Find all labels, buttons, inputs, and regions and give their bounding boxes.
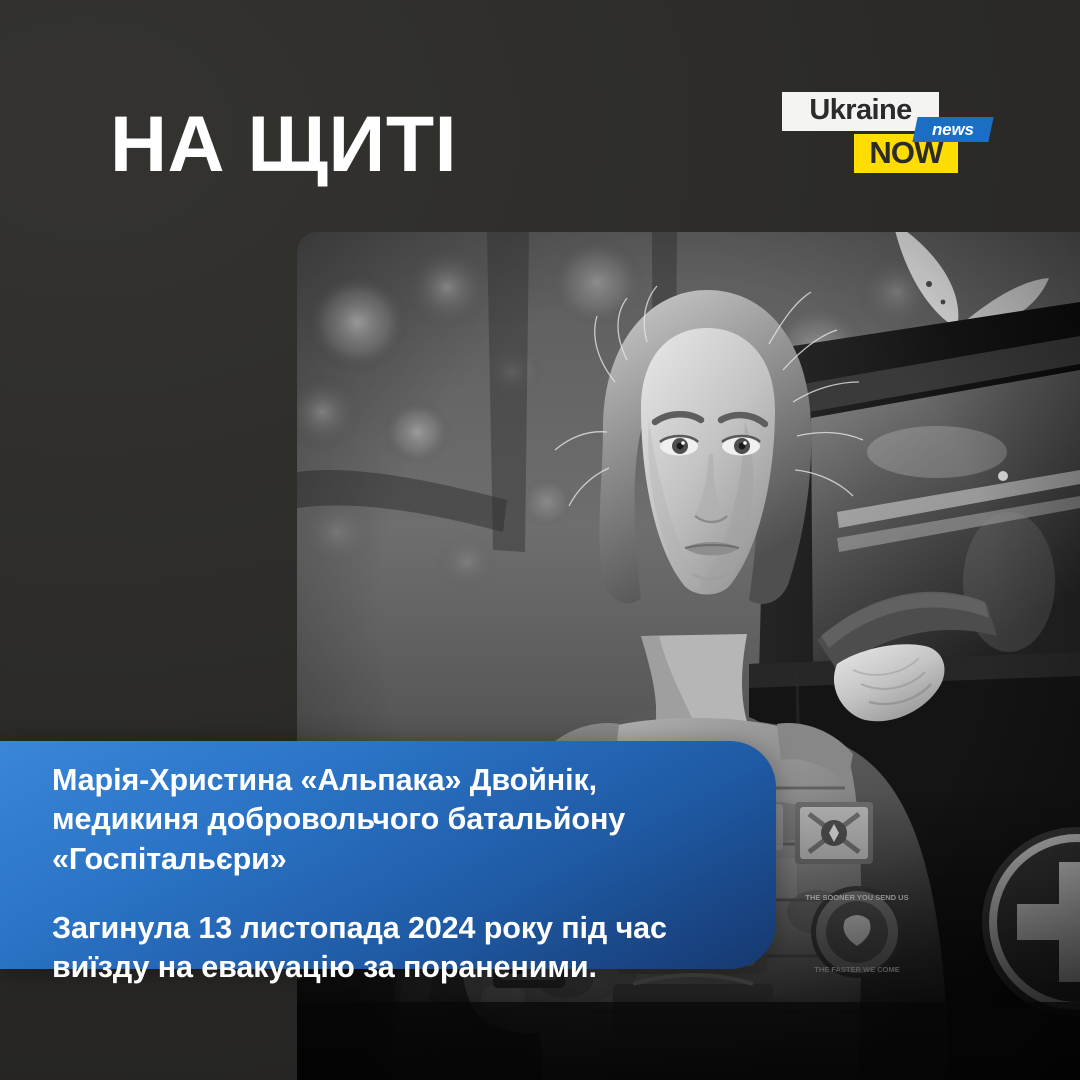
- caption-line-1: Марія-Христина «Альпака» Двойнік,: [52, 761, 706, 800]
- caption-spacer: [52, 879, 706, 909]
- memorial-poster: ОФ АЛЬПА THE SOONER YOU SEND US THE FAST…: [0, 0, 1080, 1080]
- caption-line-4: Загинула 13 листопада 2024 року під час: [52, 909, 706, 948]
- caption-text-block: Марія-Христина «Альпака» Двойнік, медики…: [52, 761, 706, 988]
- caption-line-3: «Госпітальєри»: [52, 840, 706, 879]
- logo-news-label: news: [932, 121, 974, 138]
- logo-news-banner: news: [912, 117, 993, 142]
- page-title: НА ЩИТІ: [110, 104, 457, 183]
- memorial-caption-card: Марія-Христина «Альпака» Двойнік, медики…: [0, 741, 776, 969]
- caption-line-5: виїзду на евакуацію за пораненими.: [52, 948, 706, 987]
- logo-ukraine-label: Ukraine: [809, 96, 911, 125]
- ukraine-now-news-logo[interactable]: Ukraine NOW news: [782, 92, 994, 176]
- caption-line-2: медикиня добровольчого батальйону: [52, 800, 706, 839]
